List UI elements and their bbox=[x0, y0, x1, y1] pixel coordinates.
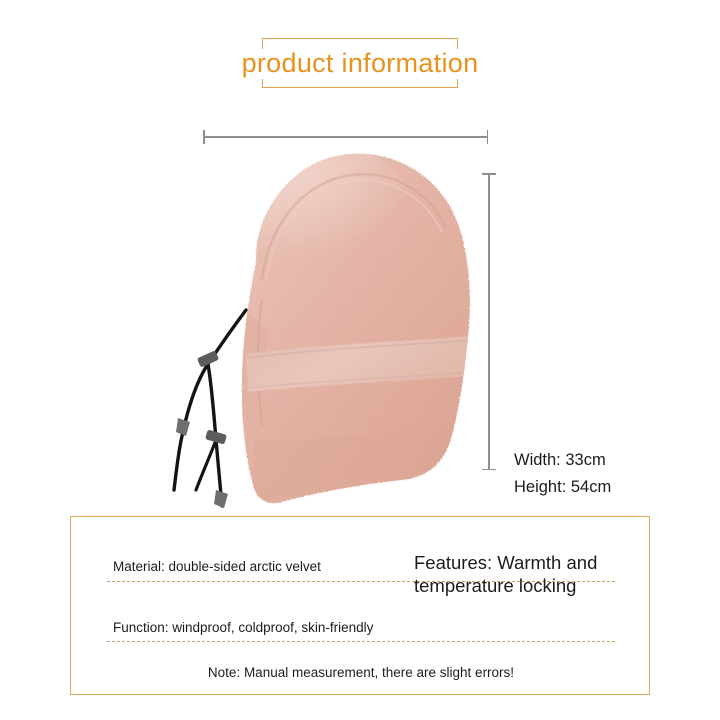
material-text: Material: double-sided arctic velvet bbox=[113, 559, 321, 574]
product-photo bbox=[150, 140, 490, 510]
dimension-labels: Width: 33cm Height: 54cm bbox=[514, 447, 704, 501]
width-measurement-line bbox=[203, 136, 488, 138]
divider-2 bbox=[107, 641, 615, 642]
function-text: Function: windproof, coldproof, skin-fri… bbox=[113, 620, 373, 635]
width-label: Width: 33cm bbox=[514, 447, 704, 474]
page-title: product information bbox=[236, 49, 485, 79]
page-title-block: product information bbox=[0, 34, 720, 94]
features-text: Features: Warmth and temperature locking bbox=[414, 551, 646, 597]
product-information-page: product information Width: 33cm Height: … bbox=[0, 0, 720, 720]
note-text: Note: Manual measurement, there are slig… bbox=[71, 665, 651, 680]
drawstring-cords bbox=[174, 310, 246, 506]
product-details-box: Material: double-sided arctic velvet Fea… bbox=[70, 516, 650, 695]
height-label: Height: 54cm bbox=[514, 474, 704, 501]
